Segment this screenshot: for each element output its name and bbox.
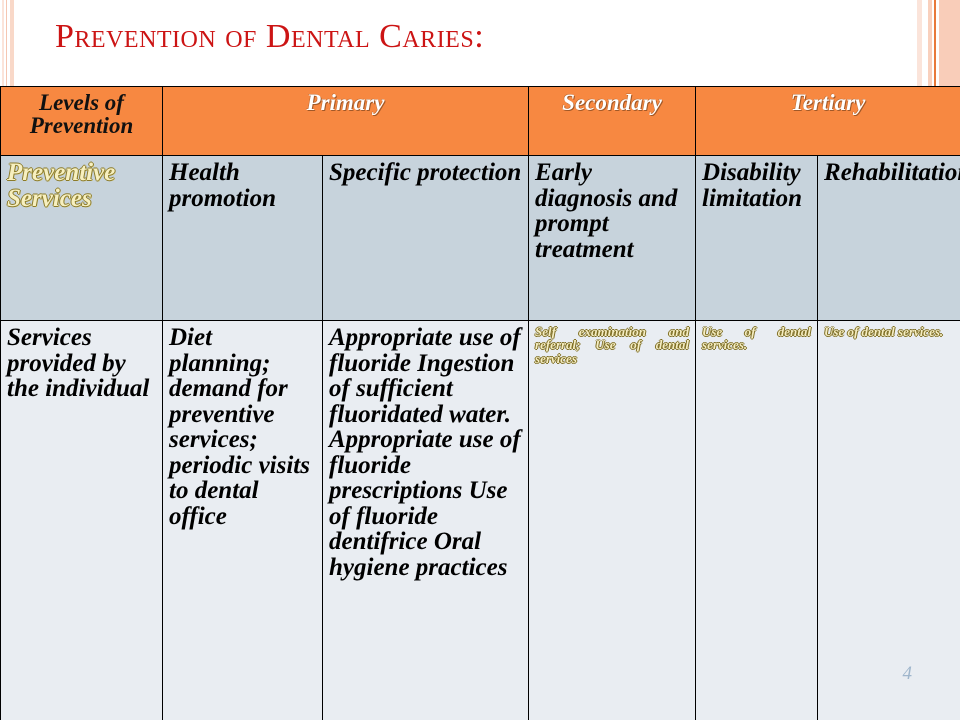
prevention-levels-table: Levels of Prevention Primary Secondary T…	[0, 86, 960, 720]
cell-health-promotion: Health promotion	[163, 156, 323, 321]
cell-diet-planning: Diet planning; demand for preventive ser…	[163, 321, 323, 720]
table-row: Preventive Services Health promotion Spe…	[1, 156, 960, 321]
cell-self-examination: Self examination and referral; Use of de…	[529, 321, 696, 720]
cell-preventive-services: Preventive Services	[1, 156, 163, 321]
cell-rehabilitation: Rehabilitation	[818, 156, 960, 321]
slide-number: 4	[903, 663, 913, 685]
cell-services-provided-individual: Services provided by the individual	[1, 321, 163, 720]
cell-early-diagnosis: Early diagnosis and prompt treatment	[529, 156, 696, 321]
cell-specific-protection: Specific protection	[323, 156, 529, 321]
slide-canvas: Prevention of Dental Caries: Levels of P…	[0, 0, 960, 720]
header-cell-tertiary: Tertiary	[696, 87, 960, 156]
cell-dental-services-rehab: Use of dental services.	[818, 321, 960, 720]
cell-dental-services-disability: Use of dental services.	[696, 321, 818, 720]
cell-fluoride-use: Appropriate use of fluoride Ingestion of…	[323, 321, 529, 720]
table-row: Services provided by the individual Diet…	[1, 321, 960, 720]
header-cell-levels: Levels of Prevention	[1, 87, 163, 156]
table-header-row: Levels of Prevention Primary Secondary T…	[1, 87, 960, 156]
header-cell-primary: Primary	[163, 87, 529, 156]
cell-disability-limitation: Disability limitation	[696, 156, 818, 321]
header-cell-secondary: Secondary	[529, 87, 696, 156]
page-title: Prevention of Dental Caries:	[55, 18, 484, 56]
bottom-band	[0, 706, 960, 720]
